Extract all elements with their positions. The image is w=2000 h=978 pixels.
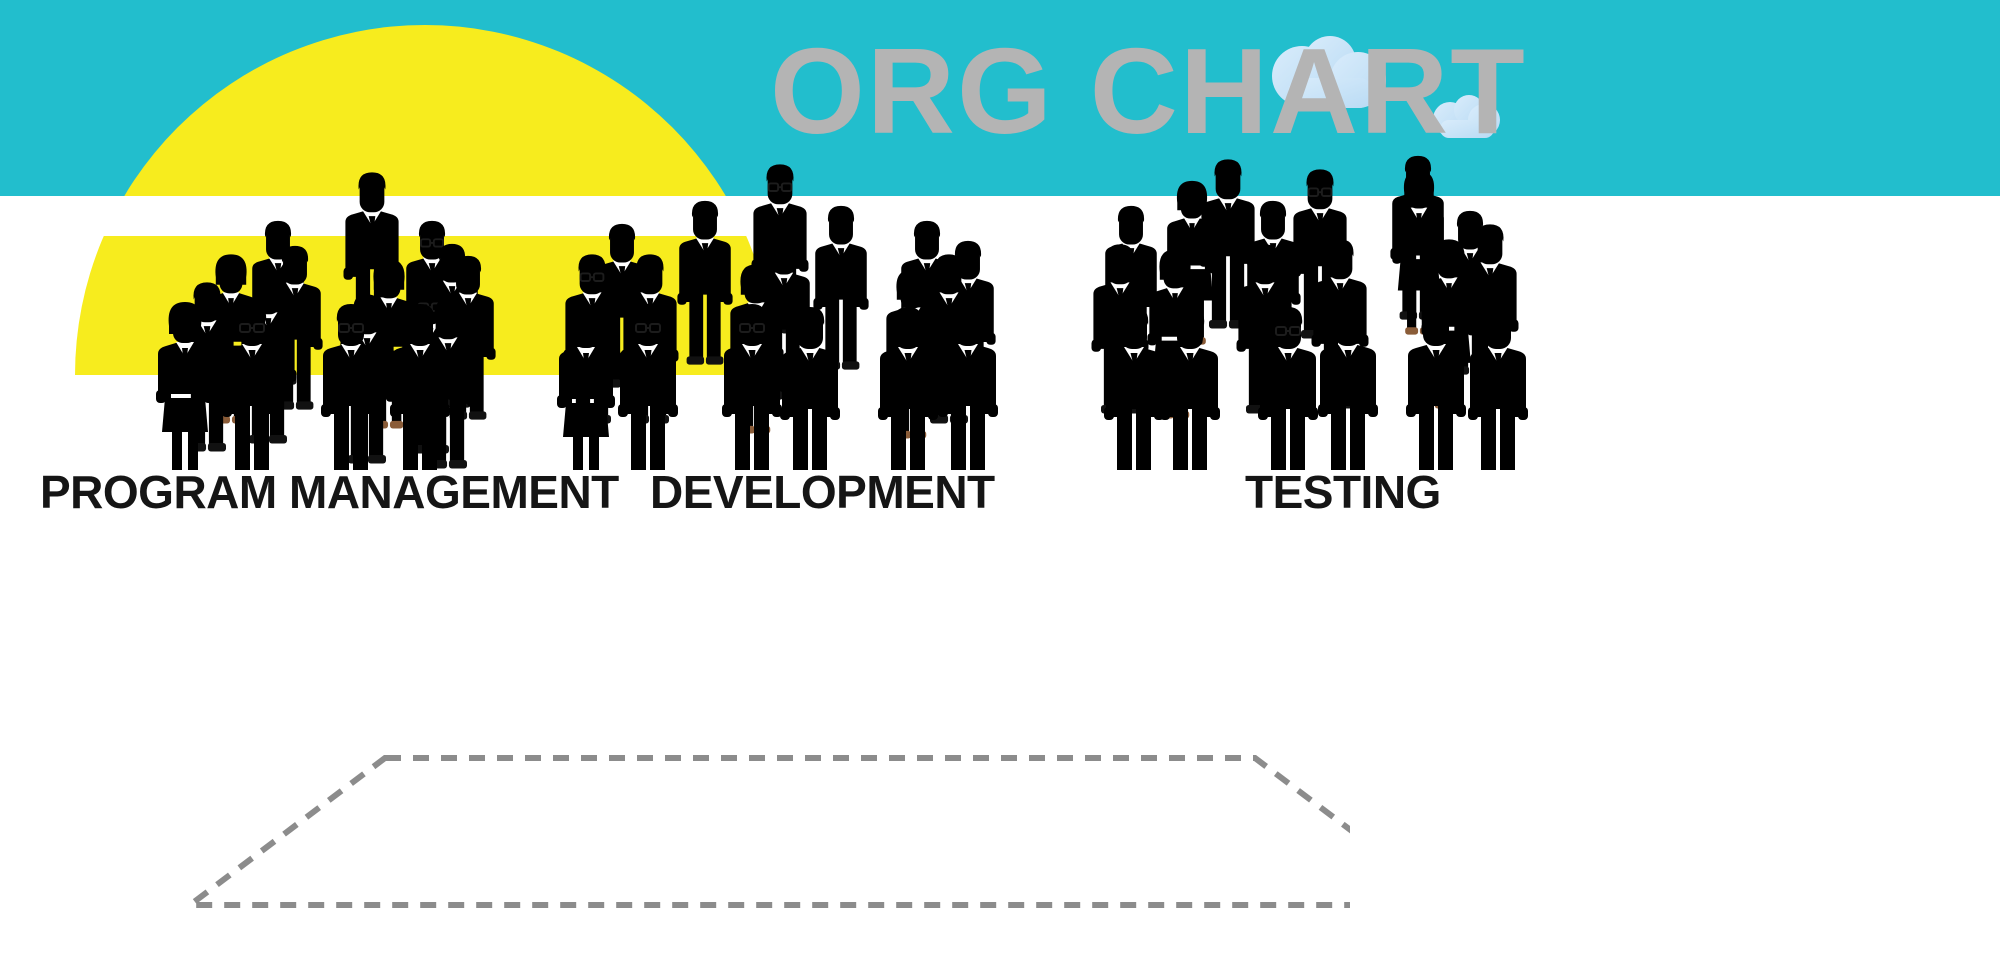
label-program-management: PROGRAM MANAGEMENT bbox=[40, 465, 619, 519]
group-labels: PROGRAM MANAGEMENT DEVELOPMENT TESTING bbox=[0, 465, 2000, 525]
people-groups: .p { } .sk-l .skin { fill:#efc9a4; } .sk… bbox=[0, 0, 2000, 470]
dashed-perspective-platform bbox=[150, 740, 1350, 940]
org-chart-poster: ORG CHART bbox=[0, 0, 2000, 978]
group-program-management[interactable] bbox=[156, 172, 496, 470]
label-testing: TESTING bbox=[1245, 465, 1441, 519]
group-development[interactable] bbox=[557, 164, 998, 470]
group-testing[interactable] bbox=[1092, 156, 1529, 470]
label-development: DEVELOPMENT bbox=[650, 465, 995, 519]
